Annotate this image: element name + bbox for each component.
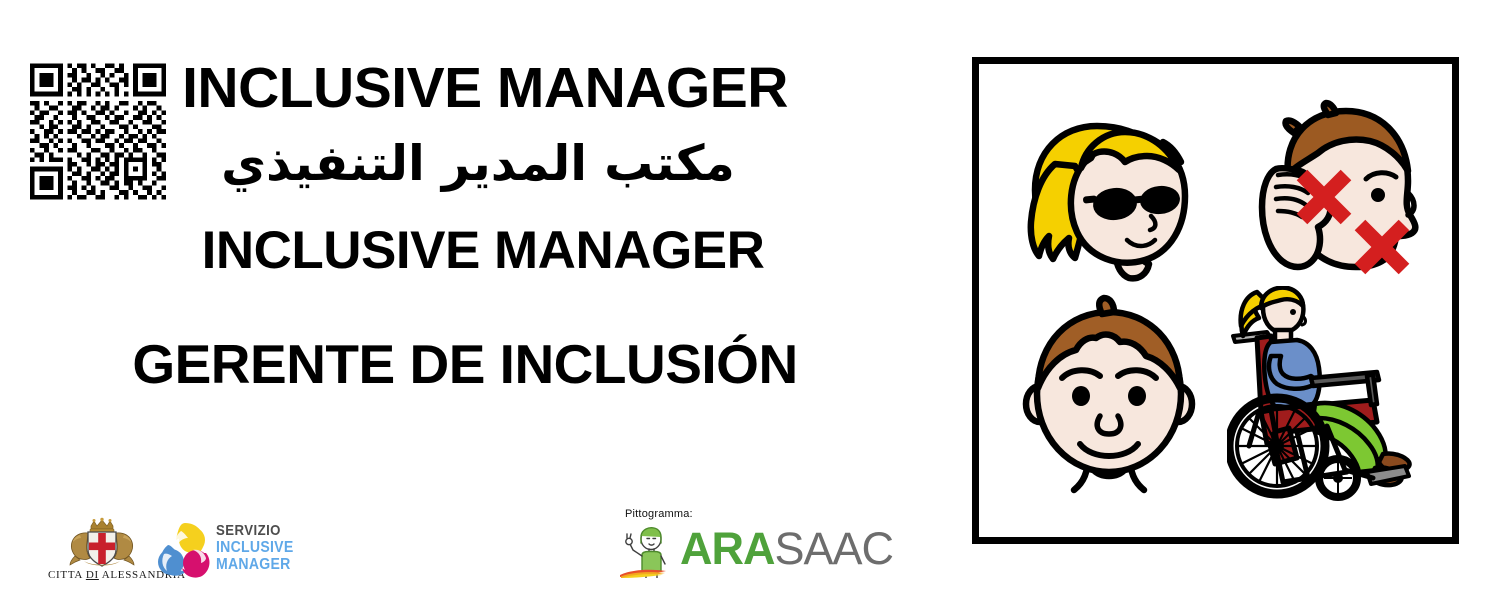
inclusive-word: INCLUSIVE bbox=[216, 539, 290, 556]
title-block: INCLUSIVE MANAGER مكتب المدير التنفيذي I… bbox=[0, 60, 930, 392]
arasaac-ara-text: ARA bbox=[680, 523, 775, 574]
arasaac-wordmark: ARASAAC bbox=[680, 526, 893, 571]
arasaac-credit: Pittogramma: bbox=[625, 508, 925, 588]
servizio-inclusive-manager-logo: SERVIZIO INCLUSIVE MANAGER bbox=[150, 513, 298, 587]
title-english-primary: INCLUSIVE MANAGER bbox=[40, 60, 930, 117]
pictogram-panel bbox=[972, 57, 1459, 544]
title-arabic: مكتب المدير التنفيذي bbox=[26, 139, 930, 188]
servizio-logo-wordmark: SERVIZIO INCLUSIVE MANAGER bbox=[216, 523, 300, 573]
servizio-word: SERVIZIO bbox=[216, 523, 290, 539]
deaf-mute-man-pictogram bbox=[1232, 97, 1437, 297]
pittogramma-label: Pittogramma: bbox=[625, 508, 693, 520]
citta-logo-caption: CITTA DI ALESSANDRIA bbox=[48, 569, 156, 581]
caption-part-1: CITTA bbox=[48, 569, 86, 581]
title-english-secondary: INCLUSIVE MANAGER bbox=[36, 224, 930, 277]
coat-of-arms-icon bbox=[58, 517, 146, 569]
caption-part-underlined: DI bbox=[86, 569, 99, 581]
three-circle-swirl-icon bbox=[154, 521, 216, 581]
smiling-boy-pictogram bbox=[1014, 294, 1204, 499]
blind-woman-pictogram bbox=[1011, 104, 1211, 289]
title-spanish: GERENTE DE INCLUSIÓN bbox=[0, 337, 930, 392]
arasaac-saac-text: SAAC bbox=[775, 523, 894, 574]
citta-di-alessandria-logo: CITTA DI ALESSANDRIA bbox=[48, 517, 156, 591]
arasaac-person-icon bbox=[618, 526, 680, 578]
poster-canvas: INCLUSIVE MANAGER مكتب المدير التنفيذي I… bbox=[0, 0, 1507, 599]
manager-word: MANAGER bbox=[216, 556, 290, 573]
wheelchair-girl-pictogram bbox=[1227, 286, 1422, 501]
